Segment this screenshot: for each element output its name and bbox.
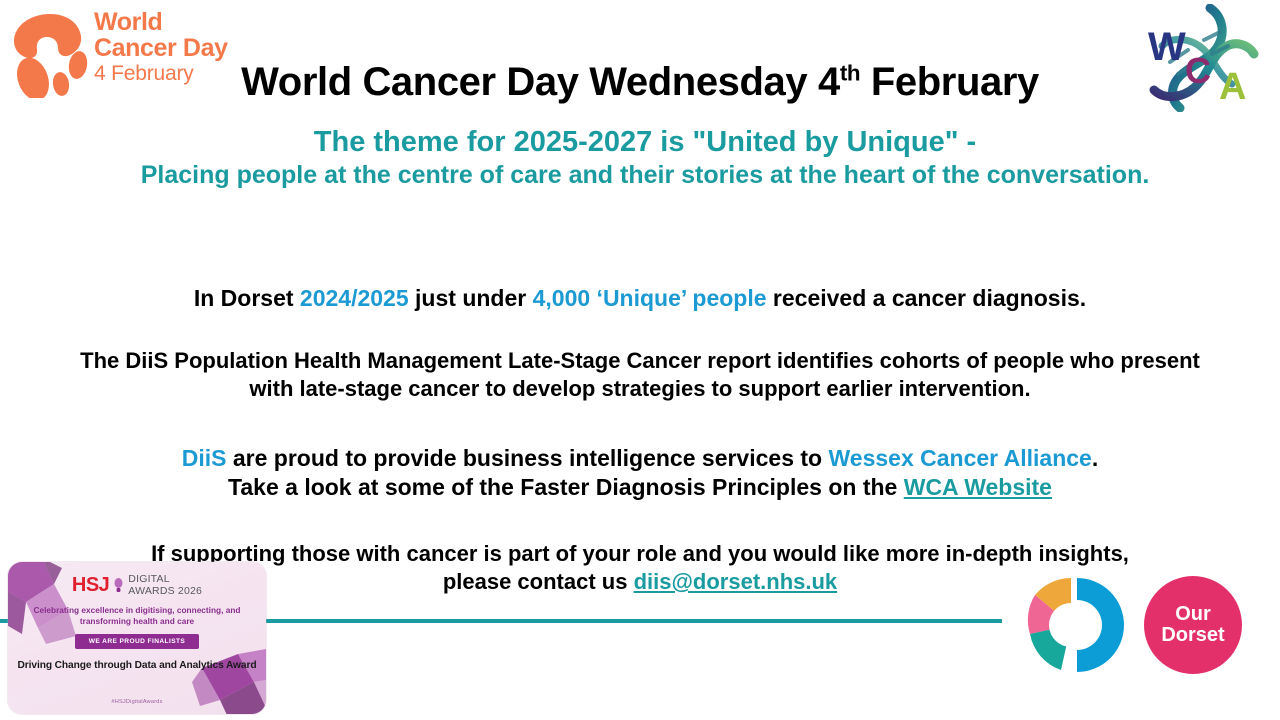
hsj-award-category: Driving Change through Data and Analytic… — [8, 660, 266, 671]
our-dorset-donut-icon — [1017, 572, 1129, 678]
our-dorset-badge: Our Dorset — [1144, 576, 1242, 674]
our-dorset-logo: Our Dorset — [1017, 572, 1242, 680]
contact-text-1: If supporting those with cancer is part … — [151, 541, 1129, 566]
stats-text-3: received a cancer diagnosis. — [767, 285, 1087, 311]
hsj-digital-awards-badge: HSJ DIGITAL AWARDS 2026 Celebrating exce… — [8, 562, 266, 714]
dorset-statistics-paragraph: In Dorset 2024/2025 just under 4,000 ‘Un… — [60, 284, 1220, 313]
our-dorset-line-2: Dorset — [1161, 625, 1224, 646]
diis-text-2: . — [1092, 445, 1098, 471]
diis-text-1: are proud to provide business intelligen… — [226, 445, 828, 471]
stats-count-highlight: 4,000 ‘Unique’ people — [533, 285, 767, 311]
theme-line-2: Placing people at the centre of care and… — [120, 161, 1170, 191]
stats-text-2: just under — [409, 285, 533, 311]
hsj-tagline: Celebrating excellence in digitising, co… — [8, 605, 266, 627]
title-part-1: World Cancer Day Wednesday 4 — [241, 60, 840, 104]
stats-text-1: In Dorset — [194, 285, 300, 311]
diis-highlight: DiiS — [182, 445, 227, 471]
hsj-brand-row: HSJ DIGITAL AWARDS 2026 — [8, 574, 266, 597]
stats-year-highlight: 2024/2025 — [300, 285, 409, 311]
hsj-hashtag: #HSJDigitalAwards — [8, 699, 266, 705]
title-ordinal-suffix: th — [840, 61, 860, 86]
wca-website-link[interactable]: WCA Website — [904, 474, 1052, 500]
contact-email-link[interactable]: diis@dorset.nhs.uk — [634, 569, 838, 594]
hsj-awards-title: DIGITAL AWARDS 2026 — [128, 574, 202, 596]
hsj-awards-line-2: AWARDS 2026 — [128, 586, 202, 597]
page-title: World Cancer Day Wednesday 4th February — [0, 60, 1280, 105]
our-dorset-line-1: Our — [1175, 604, 1211, 625]
hsj-finalist-badge: WE ARE PROUD FINALISTS — [75, 634, 199, 649]
contact-text-2: please contact us — [443, 569, 634, 594]
lightbulb-icon — [114, 578, 123, 594]
theme-line-1: The theme for 2025-2027 is "United by Un… — [120, 125, 1170, 159]
theme-statement: The theme for 2025-2027 is "United by Un… — [120, 125, 1170, 191]
diis-text-3: Take a look at some of the Faster Diagno… — [228, 474, 904, 500]
wcd-word-cancer-day: Cancer Day — [94, 36, 228, 62]
slide-canvas: World Cancer Day 4 February — [0, 0, 1280, 720]
wessex-cancer-alliance-highlight: Wessex Cancer Alliance — [828, 445, 1091, 471]
hsj-awards-line-1: DIGITAL — [128, 574, 202, 585]
diis-services-paragraph: DiiS are proud to provide business intel… — [60, 444, 1220, 503]
diis-report-paragraph: The DiiS Population Health Management La… — [60, 347, 1220, 403]
title-part-2: February — [860, 60, 1039, 104]
wcd-word-world: World — [94, 10, 228, 36]
hsj-brand-text: HSJ — [72, 574, 109, 597]
